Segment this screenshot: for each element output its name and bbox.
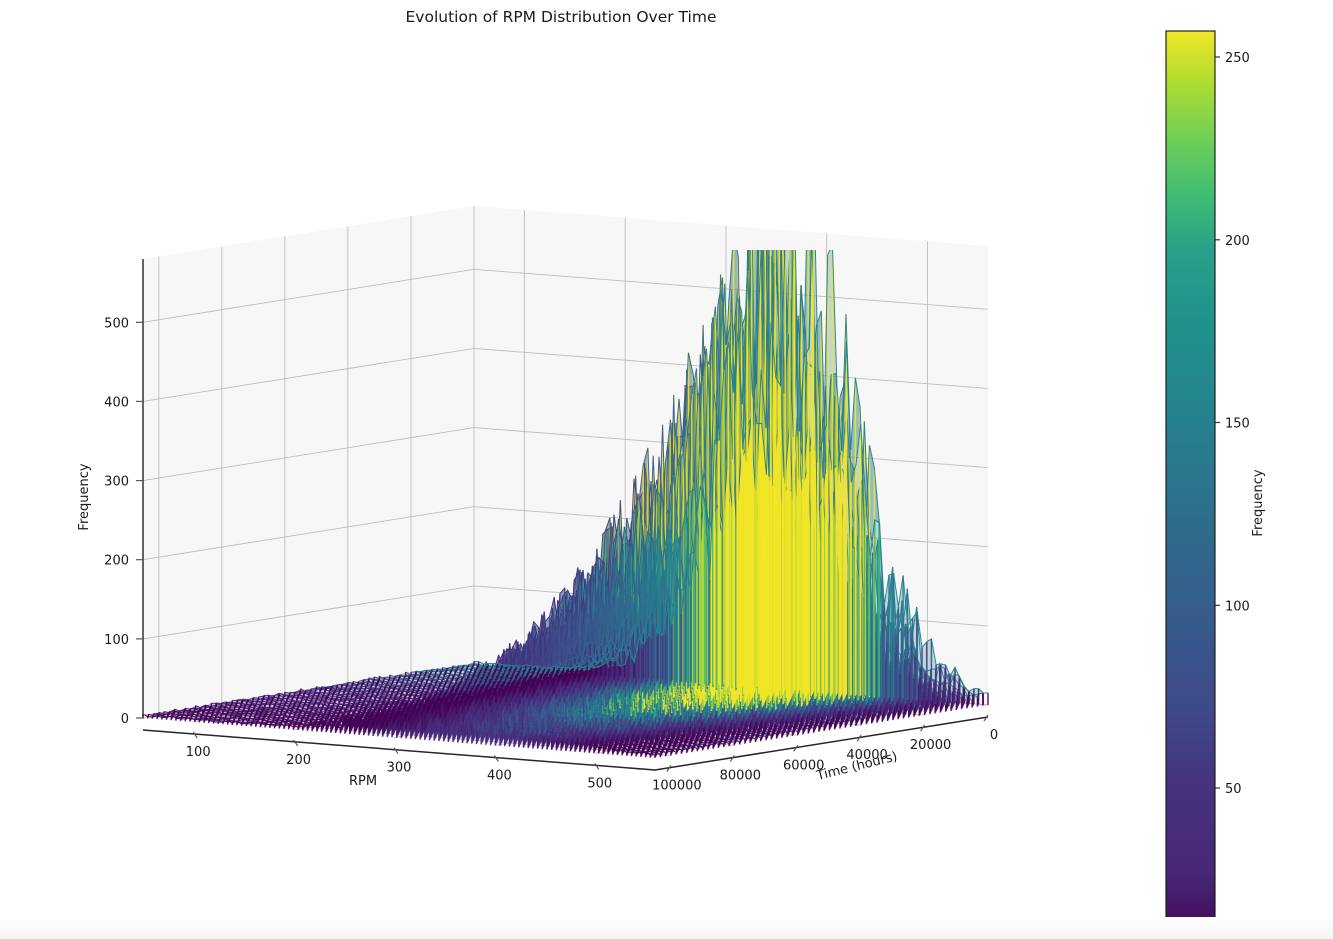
x-axis-label: RPM [349,774,377,789]
y-tick-label: 20000 [910,738,951,753]
axes-3d: 0100200300400500100200300400500020000400… [104,123,998,793]
colorbar-tick-label: 150 [1225,417,1250,432]
surface-plot-3d: Evolution of RPM Distribution Over Time … [0,0,1333,939]
z-tick-label: 500 [104,316,129,331]
z-tick-label: 200 [104,554,129,569]
colorbar-tick-label: 50 [1225,782,1242,797]
z-axis-label: Frequency [77,463,92,530]
z-tick-label: 300 [104,475,129,490]
x-tick-label: 100 [186,745,211,760]
z-tick-label: 100 [104,633,129,648]
colorbar-gradient[interactable] [1166,31,1215,939]
figure-canvas: Evolution of RPM Distribution Over Time … [0,0,1333,939]
colorbar-tick-label: 200 [1225,234,1250,249]
z-tick-label: 400 [104,395,129,410]
colorbar-label: Frequency [1251,469,1266,536]
colorbar[interactable]: 50100150200250 Frequency [1166,31,1266,939]
colorbar-ticks: 50100150200250 [1215,51,1250,797]
x-tick-label: 200 [286,753,311,768]
x-tick-label: 400 [487,769,512,784]
colorbar-tick-label: 250 [1225,51,1250,66]
y-tick-label: 80000 [720,768,761,783]
z-tick-label: 0 [121,712,129,727]
x-tick-label: 300 [387,761,412,776]
y-tick-label: 0 [990,728,998,743]
x-tick-label: 500 [587,776,612,791]
page-title: Evolution of RPM Distribution Over Time [406,8,717,26]
colorbar-tick-label: 100 [1225,599,1250,614]
y-tick-label: 100000 [652,779,702,794]
